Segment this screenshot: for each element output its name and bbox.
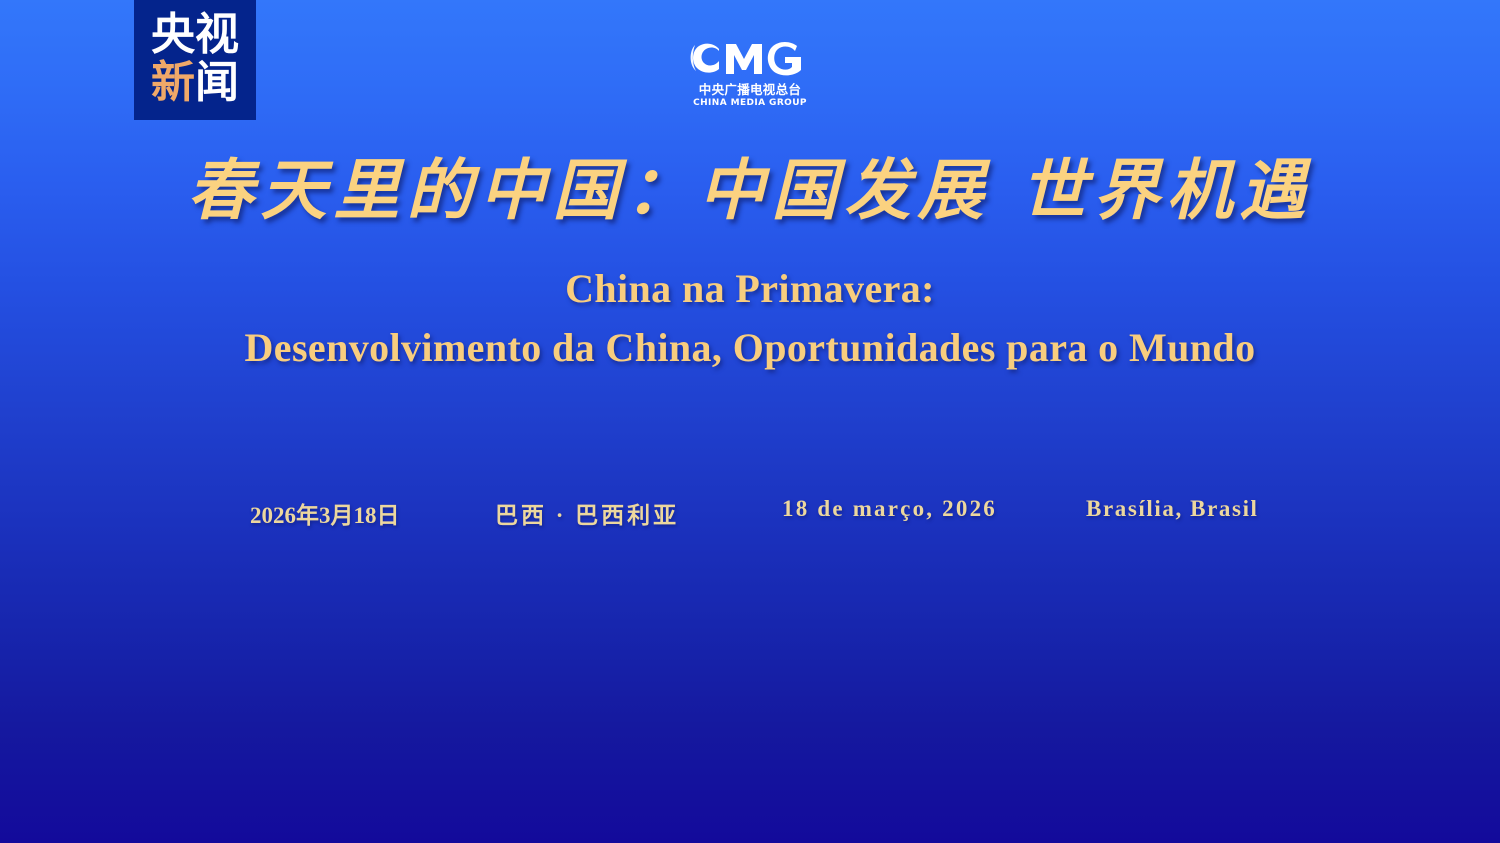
cctv-logo-line-2: 新闻 <box>151 61 239 105</box>
headline-portuguese-line-2: Desenvolvimento da China, Oportunidades … <box>0 324 1500 371</box>
cmg-logo: 中央广播电视总台 CHINA MEDIA GROUP <box>688 38 812 108</box>
event-meta-strip: 2026年3月18日 巴西 · 巴西利亚 18 de março, 2026 B… <box>0 496 1500 530</box>
event-place-portuguese: Brasília, Brasil <box>1086 496 1259 522</box>
event-date-portuguese: 18 de março, 2026 <box>782 496 997 522</box>
event-date-chinese: 2026年3月18日 <box>250 496 400 530</box>
headline-chinese: 春天里的中国：中国发展 世界机遇 <box>0 152 1500 230</box>
cmg-wordmark-icon <box>688 38 812 80</box>
cctv-news-logo: 央视 新闻 <box>134 0 256 120</box>
headline-portuguese-line-1: China na Primavera: <box>0 265 1500 312</box>
cmg-chinese-name: 中央广播电视总台 <box>688 84 812 97</box>
event-place-chinese: 巴西 · 巴西利亚 <box>495 496 679 530</box>
title-card: 央视 新闻 中央广播电视总台 CHINA MEDIA GROUP 春天里的中国：… <box>0 0 1500 843</box>
cmg-english-name: CHINA MEDIA GROUP <box>688 99 812 108</box>
cctv-logo-char-xin: 新 <box>151 61 195 105</box>
cctv-logo-char-wen: 闻 <box>195 61 239 105</box>
cctv-logo-line-1: 央视 <box>151 13 239 57</box>
